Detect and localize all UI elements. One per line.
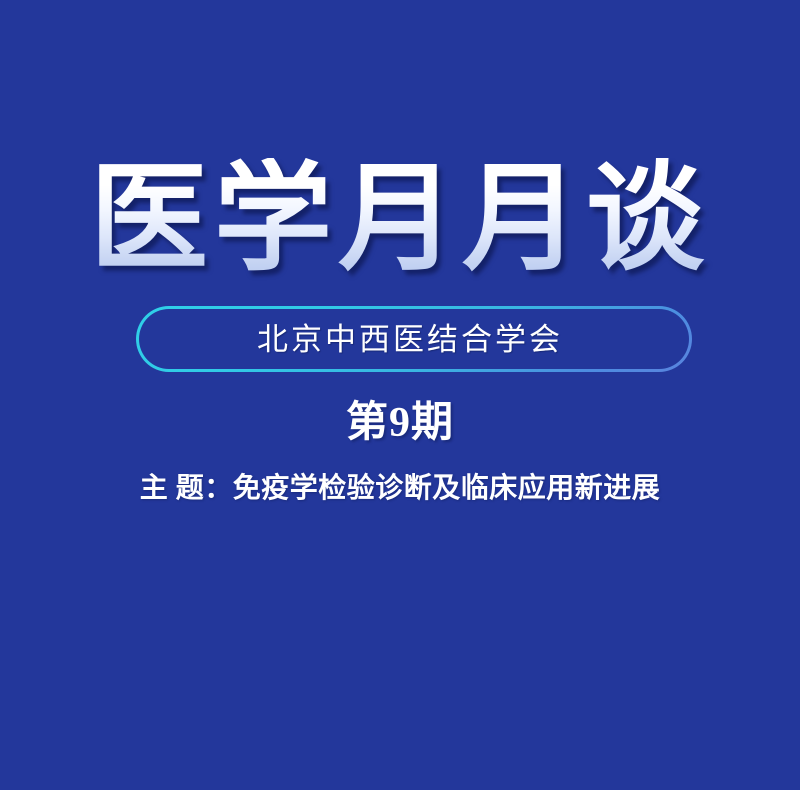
lower-empty-area	[0, 530, 800, 790]
topic-line: 主 题：免疫学检验诊断及临床应用新进展	[0, 473, 800, 505]
title-block: 医学月月谈	[0, 158, 800, 282]
organization-name: 北京中西医结合学会	[257, 324, 563, 355]
page-title: 医学月月谈	[86, 158, 714, 282]
poster-canvas: 医学月月谈 北京中西医结合学会 第9期 主 题：免疫学检验诊断及临床应用新进展	[0, 0, 800, 790]
issue-label: 第9期	[0, 400, 800, 446]
organization-pill: 北京中西医结合学会	[136, 306, 692, 372]
